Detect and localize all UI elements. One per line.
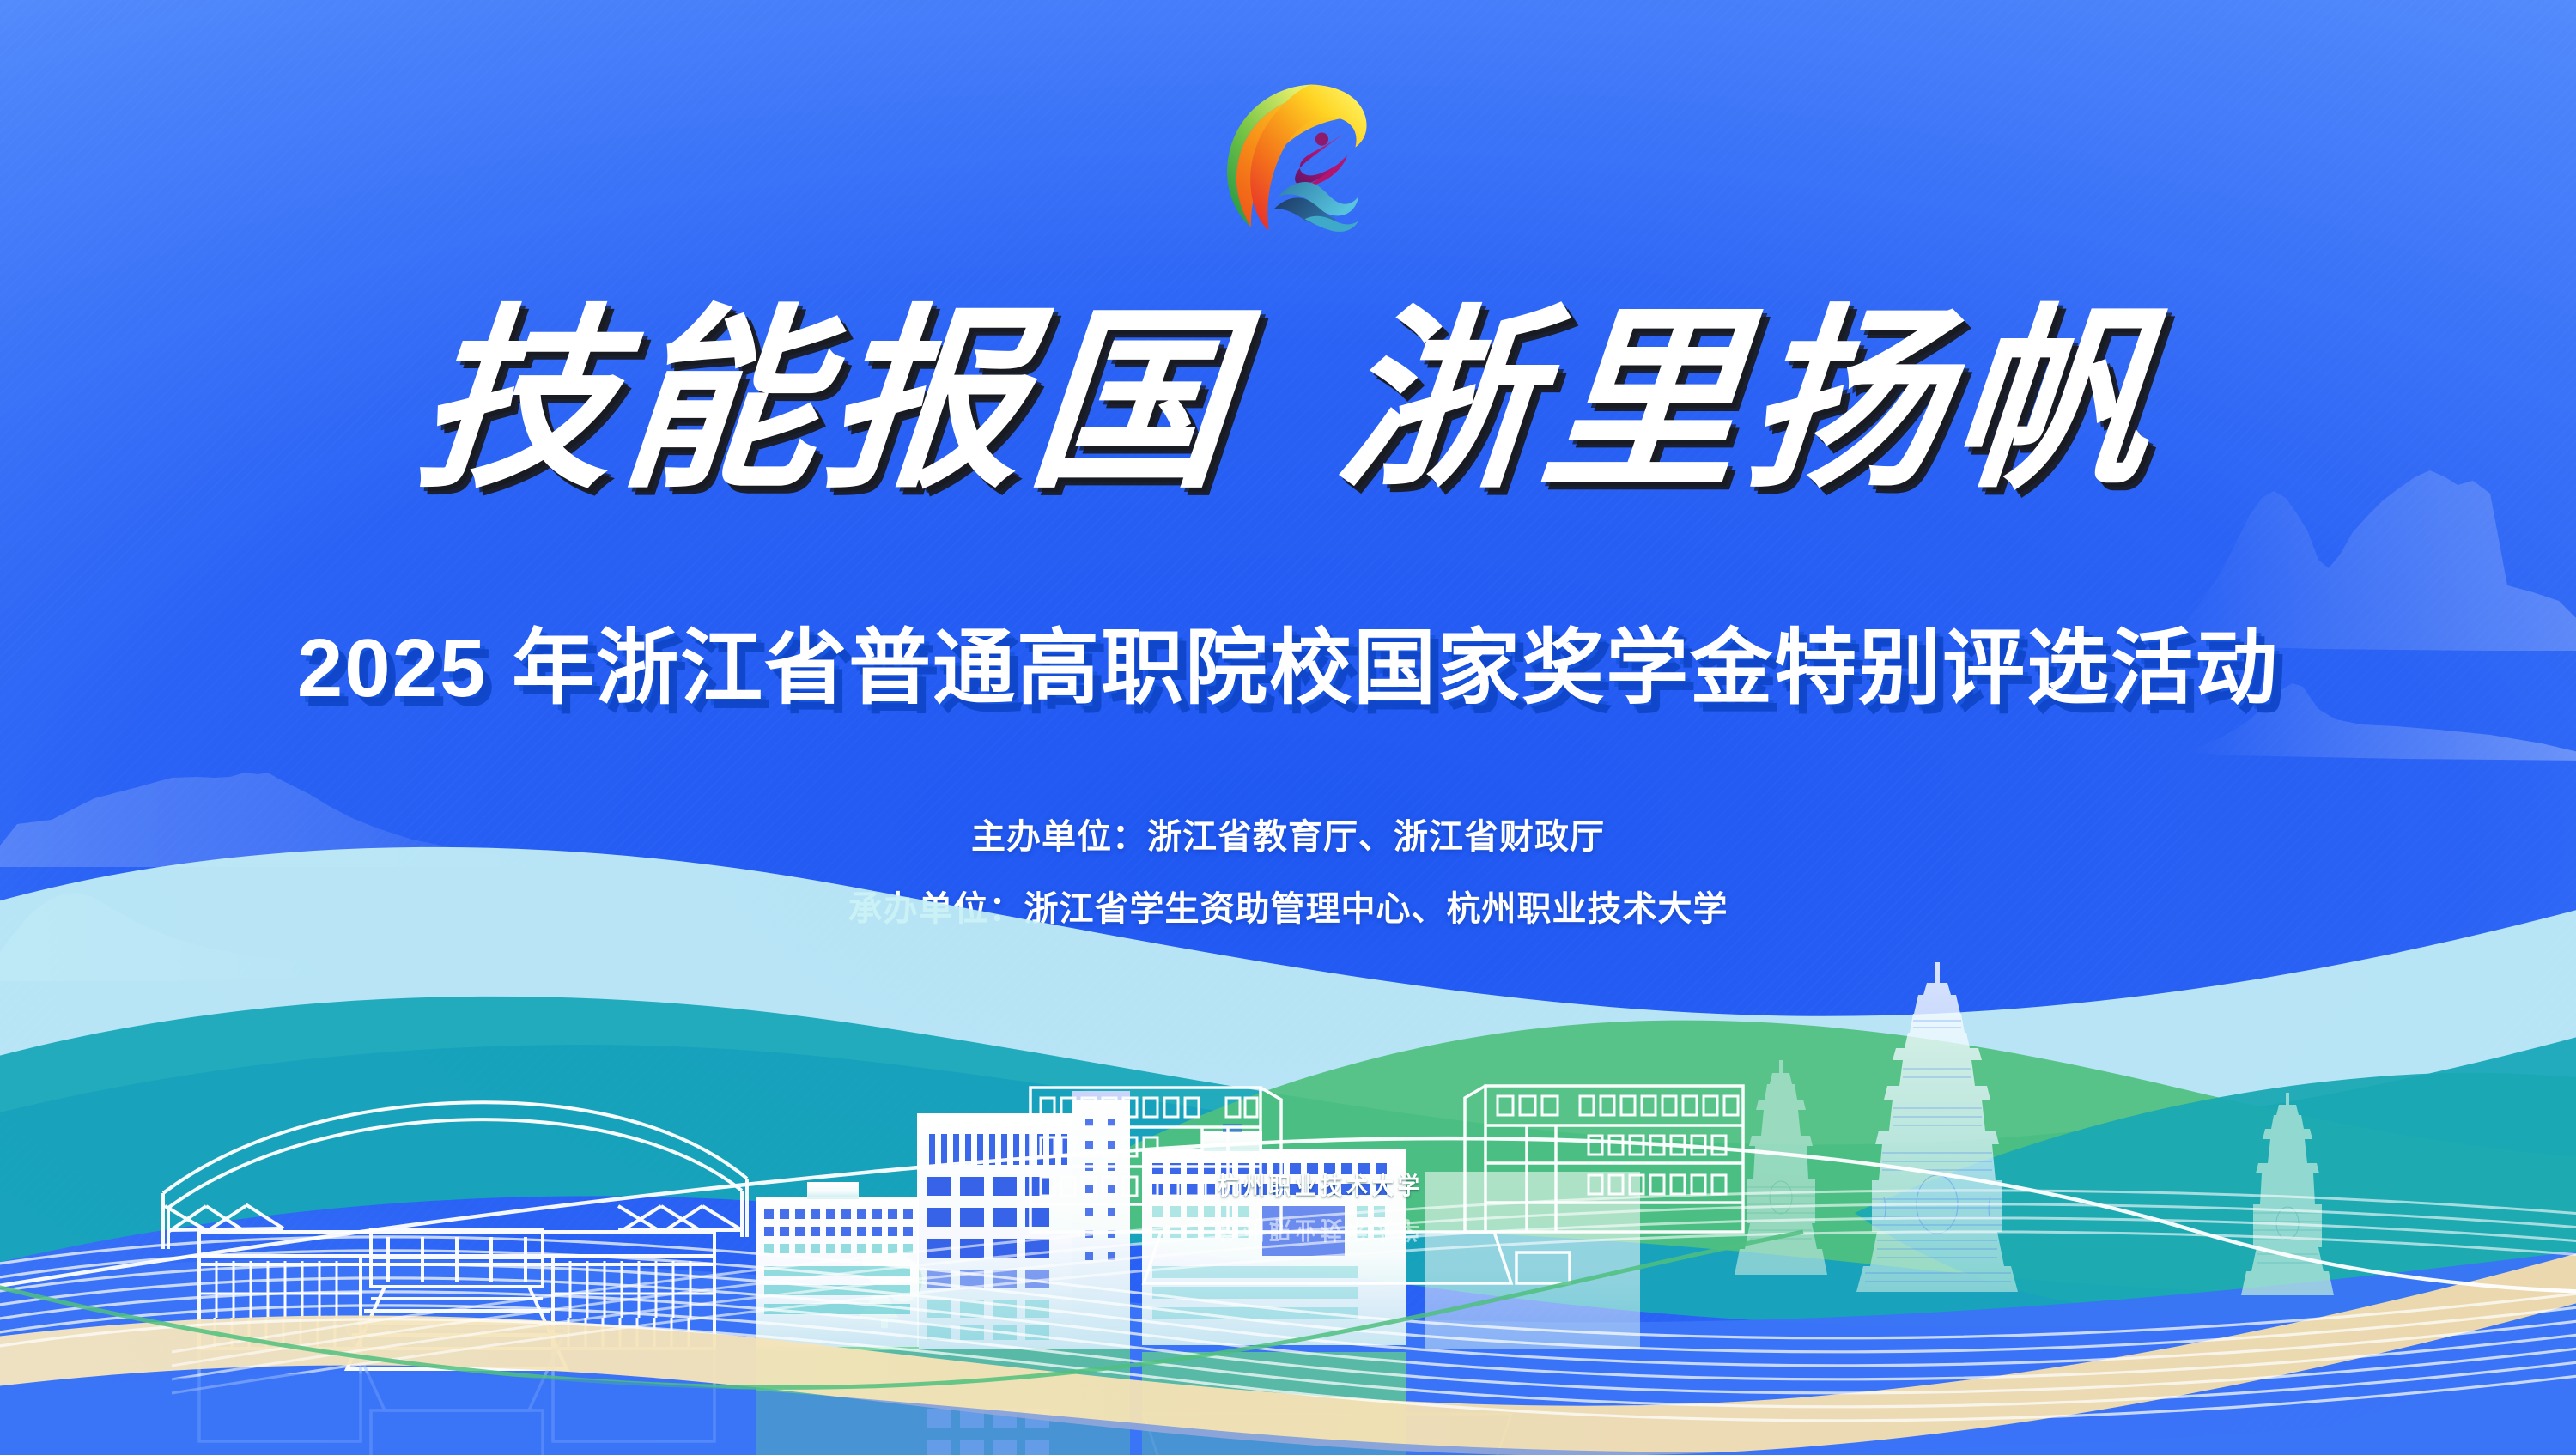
event-logo <box>1215 76 1378 239</box>
headline: 技能报国浙里扬帆 <box>0 302 2576 498</box>
poster-canvas: 技能报国浙里扬帆 2025 年浙江省普通高职院校国家奖学金特别评选活动 主办单位… <box>0 0 2576 1455</box>
page-title: 2025 年浙江省普通高职院校国家奖学金特别评选活动 <box>0 601 2576 720</box>
campus-gate-label-reflection: 杭州职业技术大学 <box>1179 1214 1462 1248</box>
campus-gate-label: 杭州职业技术大学 <box>1179 1167 1462 1202</box>
headline-right: 浙里扬帆 <box>1331 302 2166 498</box>
headline-left: 技能报国 <box>410 302 1245 498</box>
office-tower <box>917 1091 1130 1349</box>
campus-scene <box>0 803 2576 1455</box>
logo-figure-head <box>1315 133 1328 146</box>
